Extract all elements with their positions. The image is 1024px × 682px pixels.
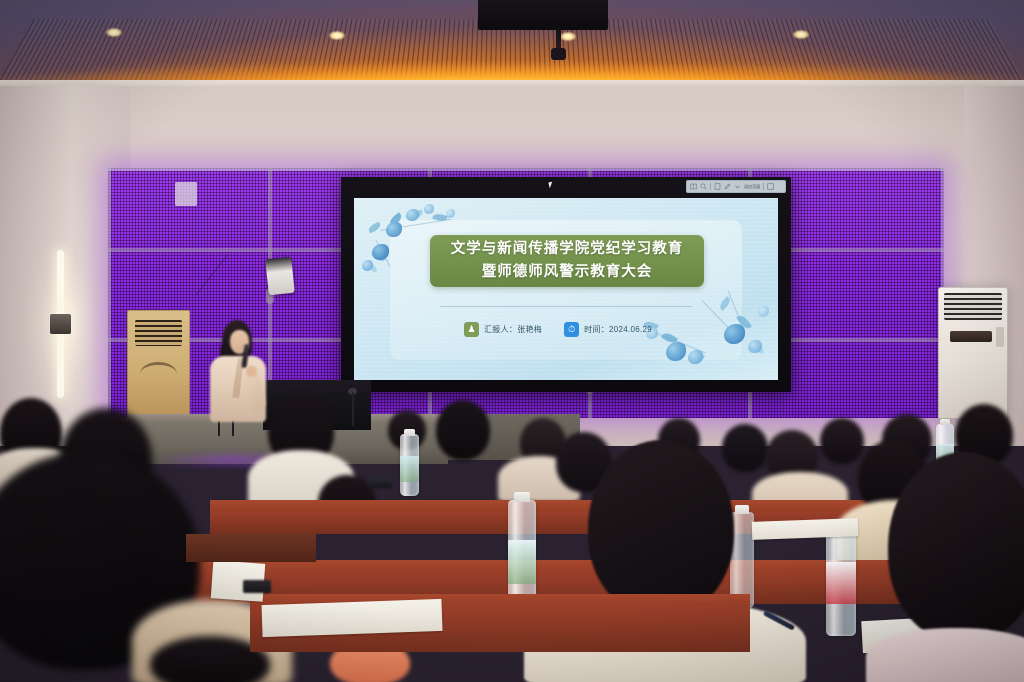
audience-head: [722, 424, 768, 472]
water-bottle: [400, 434, 419, 496]
audience-shoulders: [866, 628, 1024, 682]
zoom-level-label[interactable]: 适应页面: [744, 184, 760, 190]
bench-seat: [186, 534, 316, 562]
slide-title-line-1: 文学与新闻传播学院党纪学习教育: [451, 238, 684, 261]
presenter-meta: ♟ 汇报人：张艳梅: [464, 322, 542, 337]
zoom-out-icon[interactable]: [700, 183, 707, 190]
ac-display-panel: [950, 331, 992, 342]
fit-page-icon[interactable]: [690, 183, 697, 190]
wall-control-plate: [175, 182, 197, 206]
bottle-cap: [514, 492, 530, 502]
paper-sheet: [261, 599, 442, 637]
slide-title-band: 文学与新闻传播学院党纪学习教育 暨师德师风警示教育大会: [430, 235, 704, 287]
mobile-phone[interactable]: [368, 478, 392, 488]
chevron-down-icon[interactable]: [734, 183, 741, 190]
toolbar-separator: [763, 183, 764, 190]
downlight-4: [793, 30, 809, 39]
ac-vent-arc: [140, 362, 177, 374]
projector-head: [551, 48, 566, 60]
bottle-cap: [404, 429, 415, 436]
mobile-phone[interactable]: [243, 580, 271, 593]
bottle-label: [400, 456, 419, 482]
downlight-3: [560, 32, 576, 41]
presenter-label: 汇报人：张艳梅: [484, 324, 542, 335]
bottle-label: [508, 540, 536, 584]
wooden-ac-cabinet: [127, 310, 190, 418]
annotate-icon[interactable]: [724, 183, 731, 190]
presentation-slide: 文学与新闻传播学院党纪学习教育 暨师德师风警示教育大会 ♟ 汇报人：张艳梅 ⏱ …: [354, 198, 778, 380]
ac-grille: [135, 320, 182, 346]
microphone-stand: [352, 392, 354, 426]
ac-control-button[interactable]: [996, 327, 1004, 347]
presenter-hand: [246, 366, 257, 377]
audience-head-foreground: [888, 452, 1024, 642]
bottle-cap: [735, 505, 749, 514]
slide-divider: [440, 306, 692, 307]
slide-meta-row: ♟ 汇报人：张艳梅 ⏱ 时间：2024.06.29: [464, 322, 652, 337]
paper-sheet: [752, 518, 859, 540]
ac-grille: [944, 293, 1002, 320]
pdf-viewer-toolbar[interactable]: 适应页面: [686, 180, 786, 193]
print-icon[interactable]: [714, 183, 721, 190]
mouse-cursor: [548, 182, 553, 189]
person-icon: ♟: [464, 322, 479, 337]
audience-head: [436, 400, 490, 460]
downlight-2: [329, 31, 345, 40]
fullscreen-icon[interactable]: [767, 183, 774, 190]
ceiling-projector: [478, 0, 608, 30]
baffle-ceiling: [0, 0, 1024, 92]
date-label: 时间：2024.06.29: [584, 324, 652, 335]
bottle-label: [826, 562, 856, 604]
sconce-mount: [50, 314, 71, 334]
audience-head: [820, 418, 864, 464]
projection-screen-bezel: 适应页面: [341, 177, 791, 392]
downlight-1: [106, 28, 122, 37]
audience-head-foreground: [588, 440, 734, 616]
bottle-cap: [940, 419, 950, 425]
calendar-icon: ⏱: [564, 322, 579, 337]
lecture-hall-photo: 适应页面: [0, 0, 1024, 682]
date-meta: ⏱ 时间：2024.06.29: [564, 322, 652, 337]
water-bottle: [826, 528, 856, 636]
toolbar-separator: [710, 183, 711, 190]
white-ac-unit: [938, 287, 1008, 419]
wall-mounted-speaker: [265, 257, 295, 296]
slide-title-line-2: 暨师德师风警示教育大会: [482, 261, 653, 284]
